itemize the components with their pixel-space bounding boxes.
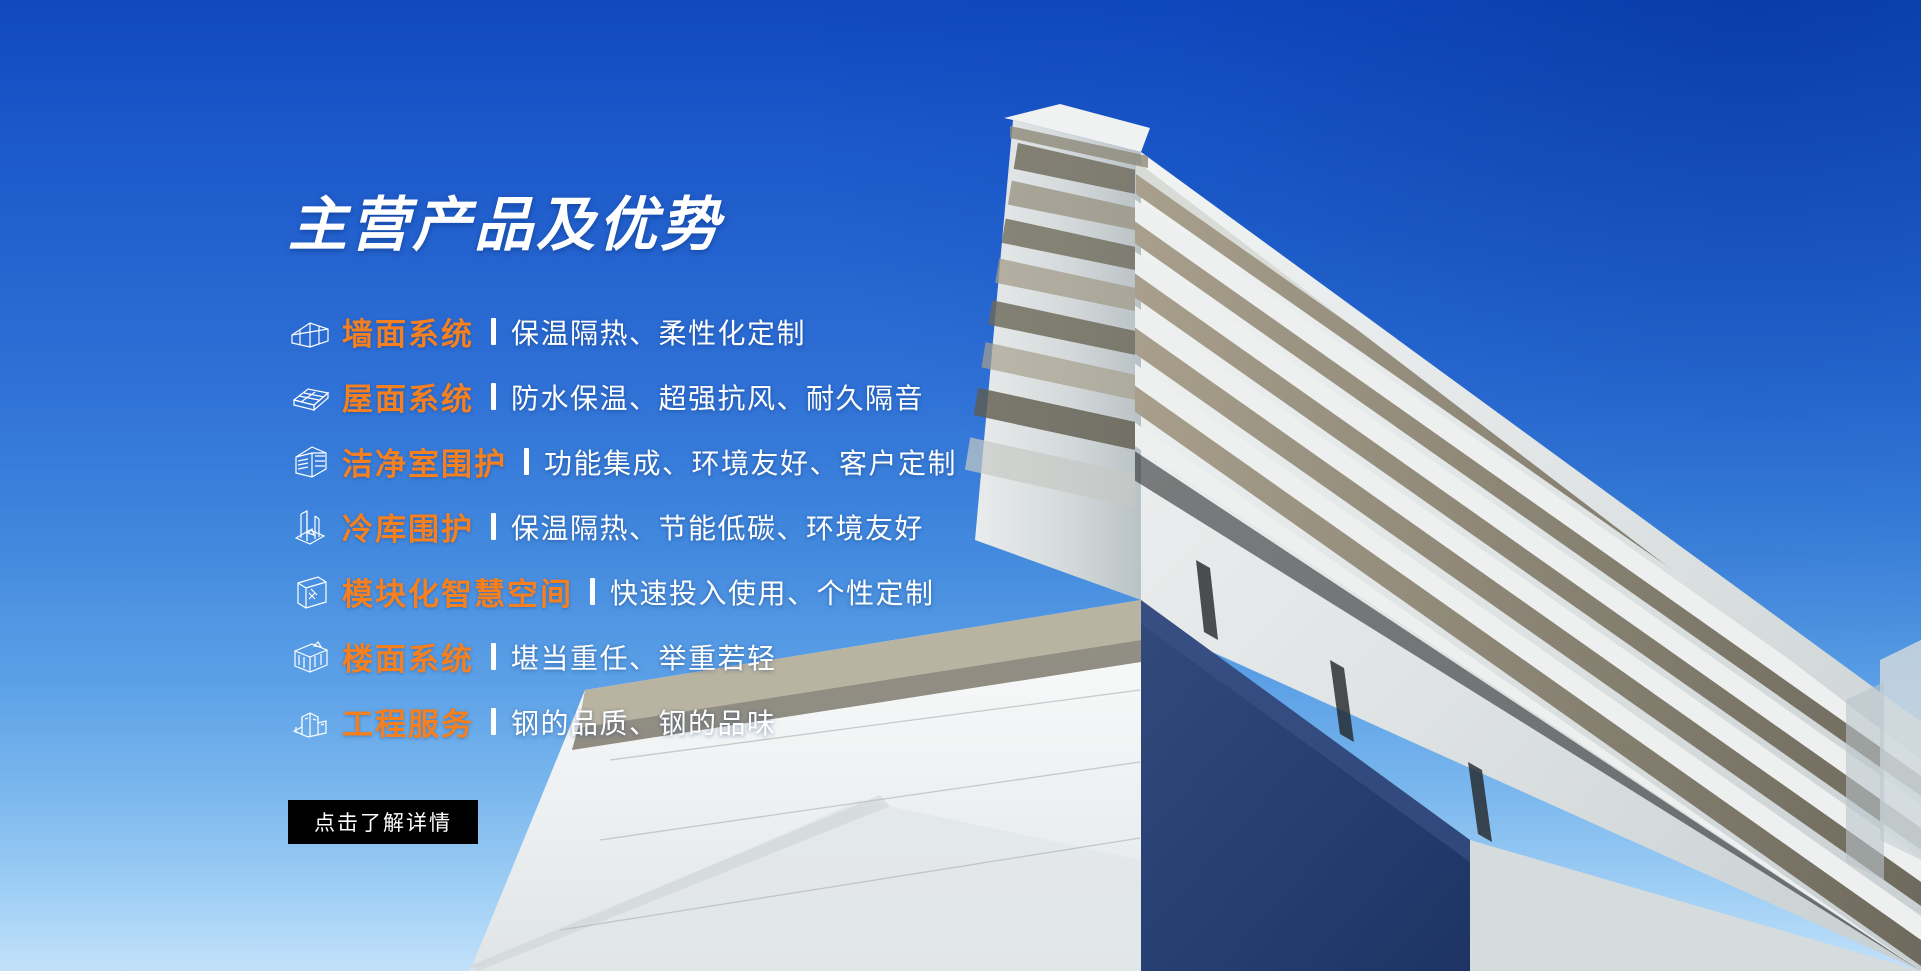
list-item-desc: 钢的品质、钢的品味 — [511, 702, 777, 742]
separator-bar — [491, 318, 496, 345]
wall-panel-wireframe-icon — [288, 315, 342, 349]
list-item-desc: 保温隔热、柔性化定制 — [511, 312, 806, 352]
separator-bar — [491, 513, 496, 540]
list-item-title: 楼面系统 — [342, 634, 474, 679]
hero-content: 主营产品及优势 墙面系统 保温隔热、柔性化定制 — [288, 196, 1388, 844]
list-item-desc: 保温隔热、节能低碳、环境友好 — [511, 507, 924, 547]
list-item-title: 工程服务 — [342, 699, 474, 744]
separator-bar — [491, 643, 496, 670]
list-item-title: 屋面系统 — [342, 374, 474, 419]
list-item[interactable]: 冷库围护 保温隔热、节能低碳、环境友好 — [288, 494, 1388, 559]
list-item-desc: 防水保温、超强抗风、耐久隔音 — [511, 377, 924, 417]
list-item-title: 模块化智慧空间 — [342, 569, 573, 614]
separator-bar — [491, 383, 496, 410]
list-item[interactable]: 楼面系统 堪当重任、举重若轻 — [288, 624, 1388, 689]
list-item[interactable]: 墙面系统 保温隔热、柔性化定制 — [288, 299, 1388, 364]
list-item-title: 墙面系统 — [342, 309, 474, 354]
engineering-service-wireframe-icon — [288, 705, 342, 739]
list-item[interactable]: 工程服务 钢的品质、钢的品味 — [288, 689, 1388, 754]
separator-bar — [524, 448, 529, 475]
list-item-desc: 堪当重任、举重若轻 — [511, 637, 777, 677]
learn-more-button[interactable]: 点击了解详情 — [288, 800, 478, 844]
list-item[interactable]: 模块化智慧空间 快速投入使用、个性定制 — [288, 559, 1388, 624]
list-item-title: 冷库围护 — [342, 504, 474, 549]
product-list: 墙面系统 保温隔热、柔性化定制 屋面系统 防水保温、超强抗风、耐久隔音 — [288, 299, 1388, 754]
list-item-title: 洁净室围护 — [342, 439, 507, 484]
separator-bar — [491, 708, 496, 735]
list-item[interactable]: 屋面系统 防水保温、超强抗风、耐久隔音 — [288, 364, 1388, 429]
list-item-desc: 快速投入使用、个性定制 — [610, 572, 935, 612]
cold-storage-wireframe-icon — [288, 508, 342, 546]
list-item[interactable]: 洁净室围护 功能集成、环境友好、客户定制 — [288, 429, 1388, 494]
page-title: 主营产品及优势 — [288, 196, 1388, 255]
hero-banner: 主营产品及优势 墙面系统 保温隔热、柔性化定制 — [0, 0, 1921, 971]
modular-cube-wireframe-icon — [288, 573, 342, 611]
floor-system-wireframe-icon — [288, 638, 342, 676]
cleanroom-building-wireframe-icon — [288, 443, 342, 481]
roof-panel-wireframe-icon — [288, 380, 342, 414]
list-item-desc: 功能集成、环境友好、客户定制 — [544, 442, 957, 482]
separator-bar — [590, 578, 595, 605]
